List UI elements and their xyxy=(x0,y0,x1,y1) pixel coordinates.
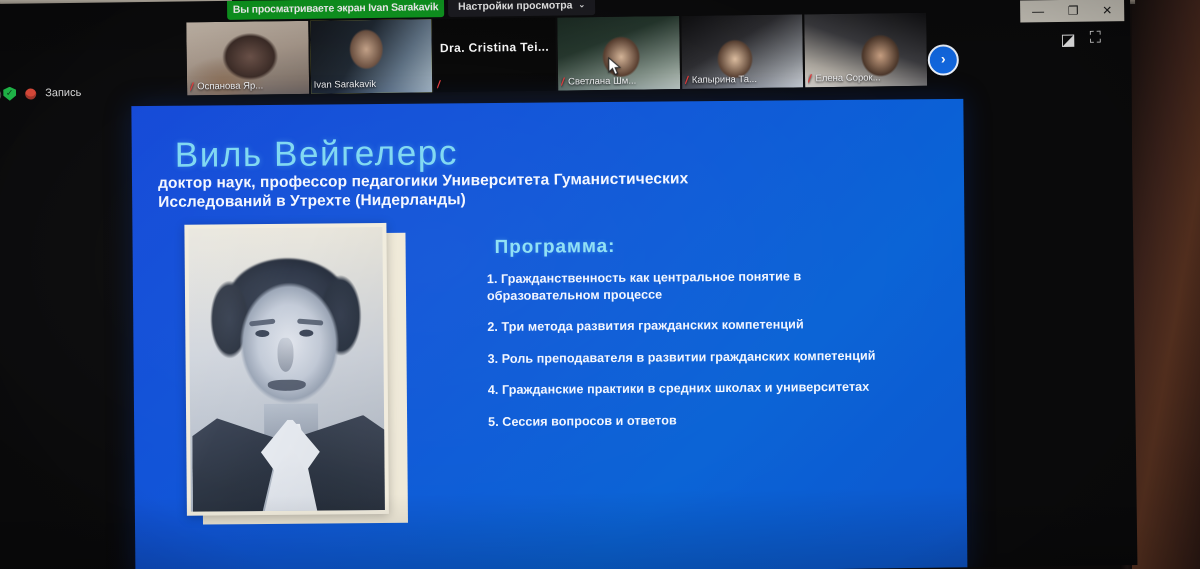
collapse-panel-icon[interactable] xyxy=(0,88,1,102)
minimize-button[interactable]: — xyxy=(1032,4,1044,18)
room-background xyxy=(1128,0,1200,569)
window-controls[interactable]: — ❐ ✕ xyxy=(1020,0,1124,23)
participant-tile[interactable]: Dra. Cristina Tei... / xyxy=(434,18,557,93)
view-settings-label: Настройки просмотра xyxy=(458,0,573,17)
portrait-photo xyxy=(184,223,389,516)
participant-name-row: / xyxy=(437,79,553,91)
slide-title: Виль Вейгелерс xyxy=(175,133,459,175)
participant-name: Светлана Шм... xyxy=(568,76,636,89)
recording-indicator[interactable]: ✓ Запись xyxy=(3,86,81,101)
recording-label: Запись xyxy=(45,87,81,99)
participant-name-row: / Оспанова Яр... xyxy=(190,80,306,94)
participant-name: Dra. Cristina Tei... xyxy=(440,40,552,55)
participant-name-row: / Капырина Та... xyxy=(685,73,801,87)
participant-name: Оспанова Яр... xyxy=(197,80,263,93)
security-shield-icon: ✓ xyxy=(3,87,16,101)
program-item: 5. Сессия вопросов и ответов xyxy=(488,410,898,430)
mic-muted-icon: / xyxy=(190,82,194,92)
program-heading: Программа: xyxy=(495,236,616,259)
participant-name-row: / Светлана Шм... xyxy=(561,75,677,89)
program-list: 1. Гражданственность как центральное пон… xyxy=(487,267,899,445)
participant-tile[interactable]: Ivan Sarakavik xyxy=(310,19,433,94)
view-settings-dropdown[interactable]: Настройки просмотра ⌄ xyxy=(448,0,595,17)
screenshot-stage: Вы просматриваете экран Ivan Sarakavik Н… xyxy=(0,0,1200,569)
program-item: 2. Три метода развития гражданских компе… xyxy=(487,315,897,335)
mic-muted-icon: / xyxy=(561,77,565,87)
program-item: 3. Роль преподавателя в развитии граждан… xyxy=(487,347,897,367)
slide-subtitle: доктор наук, профессор педагогики Универ… xyxy=(158,169,718,212)
maximize-button[interactable]: ❐ xyxy=(1068,4,1079,18)
recording-dot-icon xyxy=(25,88,36,99)
participant-name-row: / Елена Сорок... xyxy=(808,72,924,86)
participant-tile[interactable]: / Елена Сорок... xyxy=(805,13,928,88)
screen-share-banner: Вы просматриваете экран Ivan Sarakavik xyxy=(227,0,444,20)
participant-name: Елена Сорок... xyxy=(815,72,880,85)
mic-muted-icon: / xyxy=(437,80,441,90)
portrait-nose xyxy=(277,338,293,372)
participant-tile[interactable]: / Светлана Шм... xyxy=(557,16,680,91)
filmstrip-next-button[interactable]: › xyxy=(928,44,959,75)
mic-muted-icon: / xyxy=(685,76,689,86)
participant-tile[interactable]: / Капырина Та... xyxy=(681,14,804,89)
shared-slide: Виль Вейгелерс доктор наук, профессор пе… xyxy=(131,99,967,569)
monitor-screen: Вы просматриваете экран Ivan Sarakavik Н… xyxy=(0,0,1137,569)
participant-filmstrip: / Оспанова Яр... Ivan Sarakavik Dra. Cri… xyxy=(186,13,927,96)
participant-name-row: Ivan Sarakavik xyxy=(314,78,430,92)
video-view-controls[interactable]: ◪ ⛶ xyxy=(1060,29,1112,50)
participant-tile[interactable]: / Оспанова Яр... xyxy=(186,21,309,96)
program-item: 1. Гражданственность как центральное пон… xyxy=(487,267,897,304)
portrait-image xyxy=(188,227,384,512)
program-item: 4. Гражданские практики в средних школах… xyxy=(488,378,898,398)
fullscreen-icon[interactable]: ⛶ xyxy=(1090,29,1101,49)
participant-name: Капырина Та... xyxy=(692,74,757,87)
participant-name: Ivan Sarakavik xyxy=(314,79,376,92)
picture-in-picture-icon[interactable]: ◪ xyxy=(1060,30,1075,50)
mic-muted-icon: / xyxy=(808,74,812,84)
chevron-down-icon: ⌄ xyxy=(578,0,585,14)
close-button[interactable]: ✕ xyxy=(1102,3,1112,17)
